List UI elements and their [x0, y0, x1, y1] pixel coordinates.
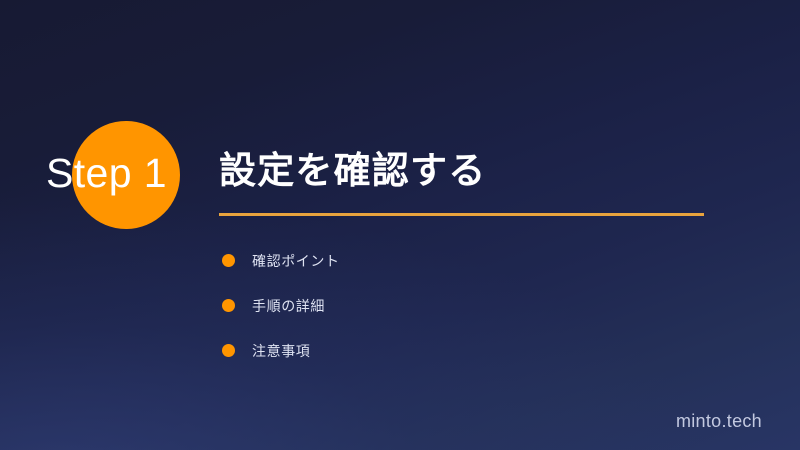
bullet-item-label: 確認ポイント	[252, 252, 340, 270]
bullet-dot-icon	[222, 344, 235, 357]
title-divider	[219, 213, 704, 216]
step-badge-label: Step 1	[46, 148, 167, 198]
list-item: 注意事項	[222, 328, 340, 373]
slide-canvas: Step 1 設定を確認する 確認ポイント 手順の詳細 注意事項 minto.t…	[0, 0, 800, 450]
bullet-dot-icon	[222, 299, 235, 312]
list-item: 手順の詳細	[222, 283, 340, 328]
slide-title: 設定を確認する	[219, 146, 486, 196]
bullet-dot-icon	[222, 254, 235, 267]
footer-brand: minto.tech	[676, 410, 762, 432]
list-item: 確認ポイント	[222, 238, 340, 283]
bullet-list: 確認ポイント 手順の詳細 注意事項	[222, 238, 340, 373]
bullet-item-label: 手順の詳細	[252, 297, 325, 315]
bullet-item-label: 注意事項	[252, 342, 310, 360]
